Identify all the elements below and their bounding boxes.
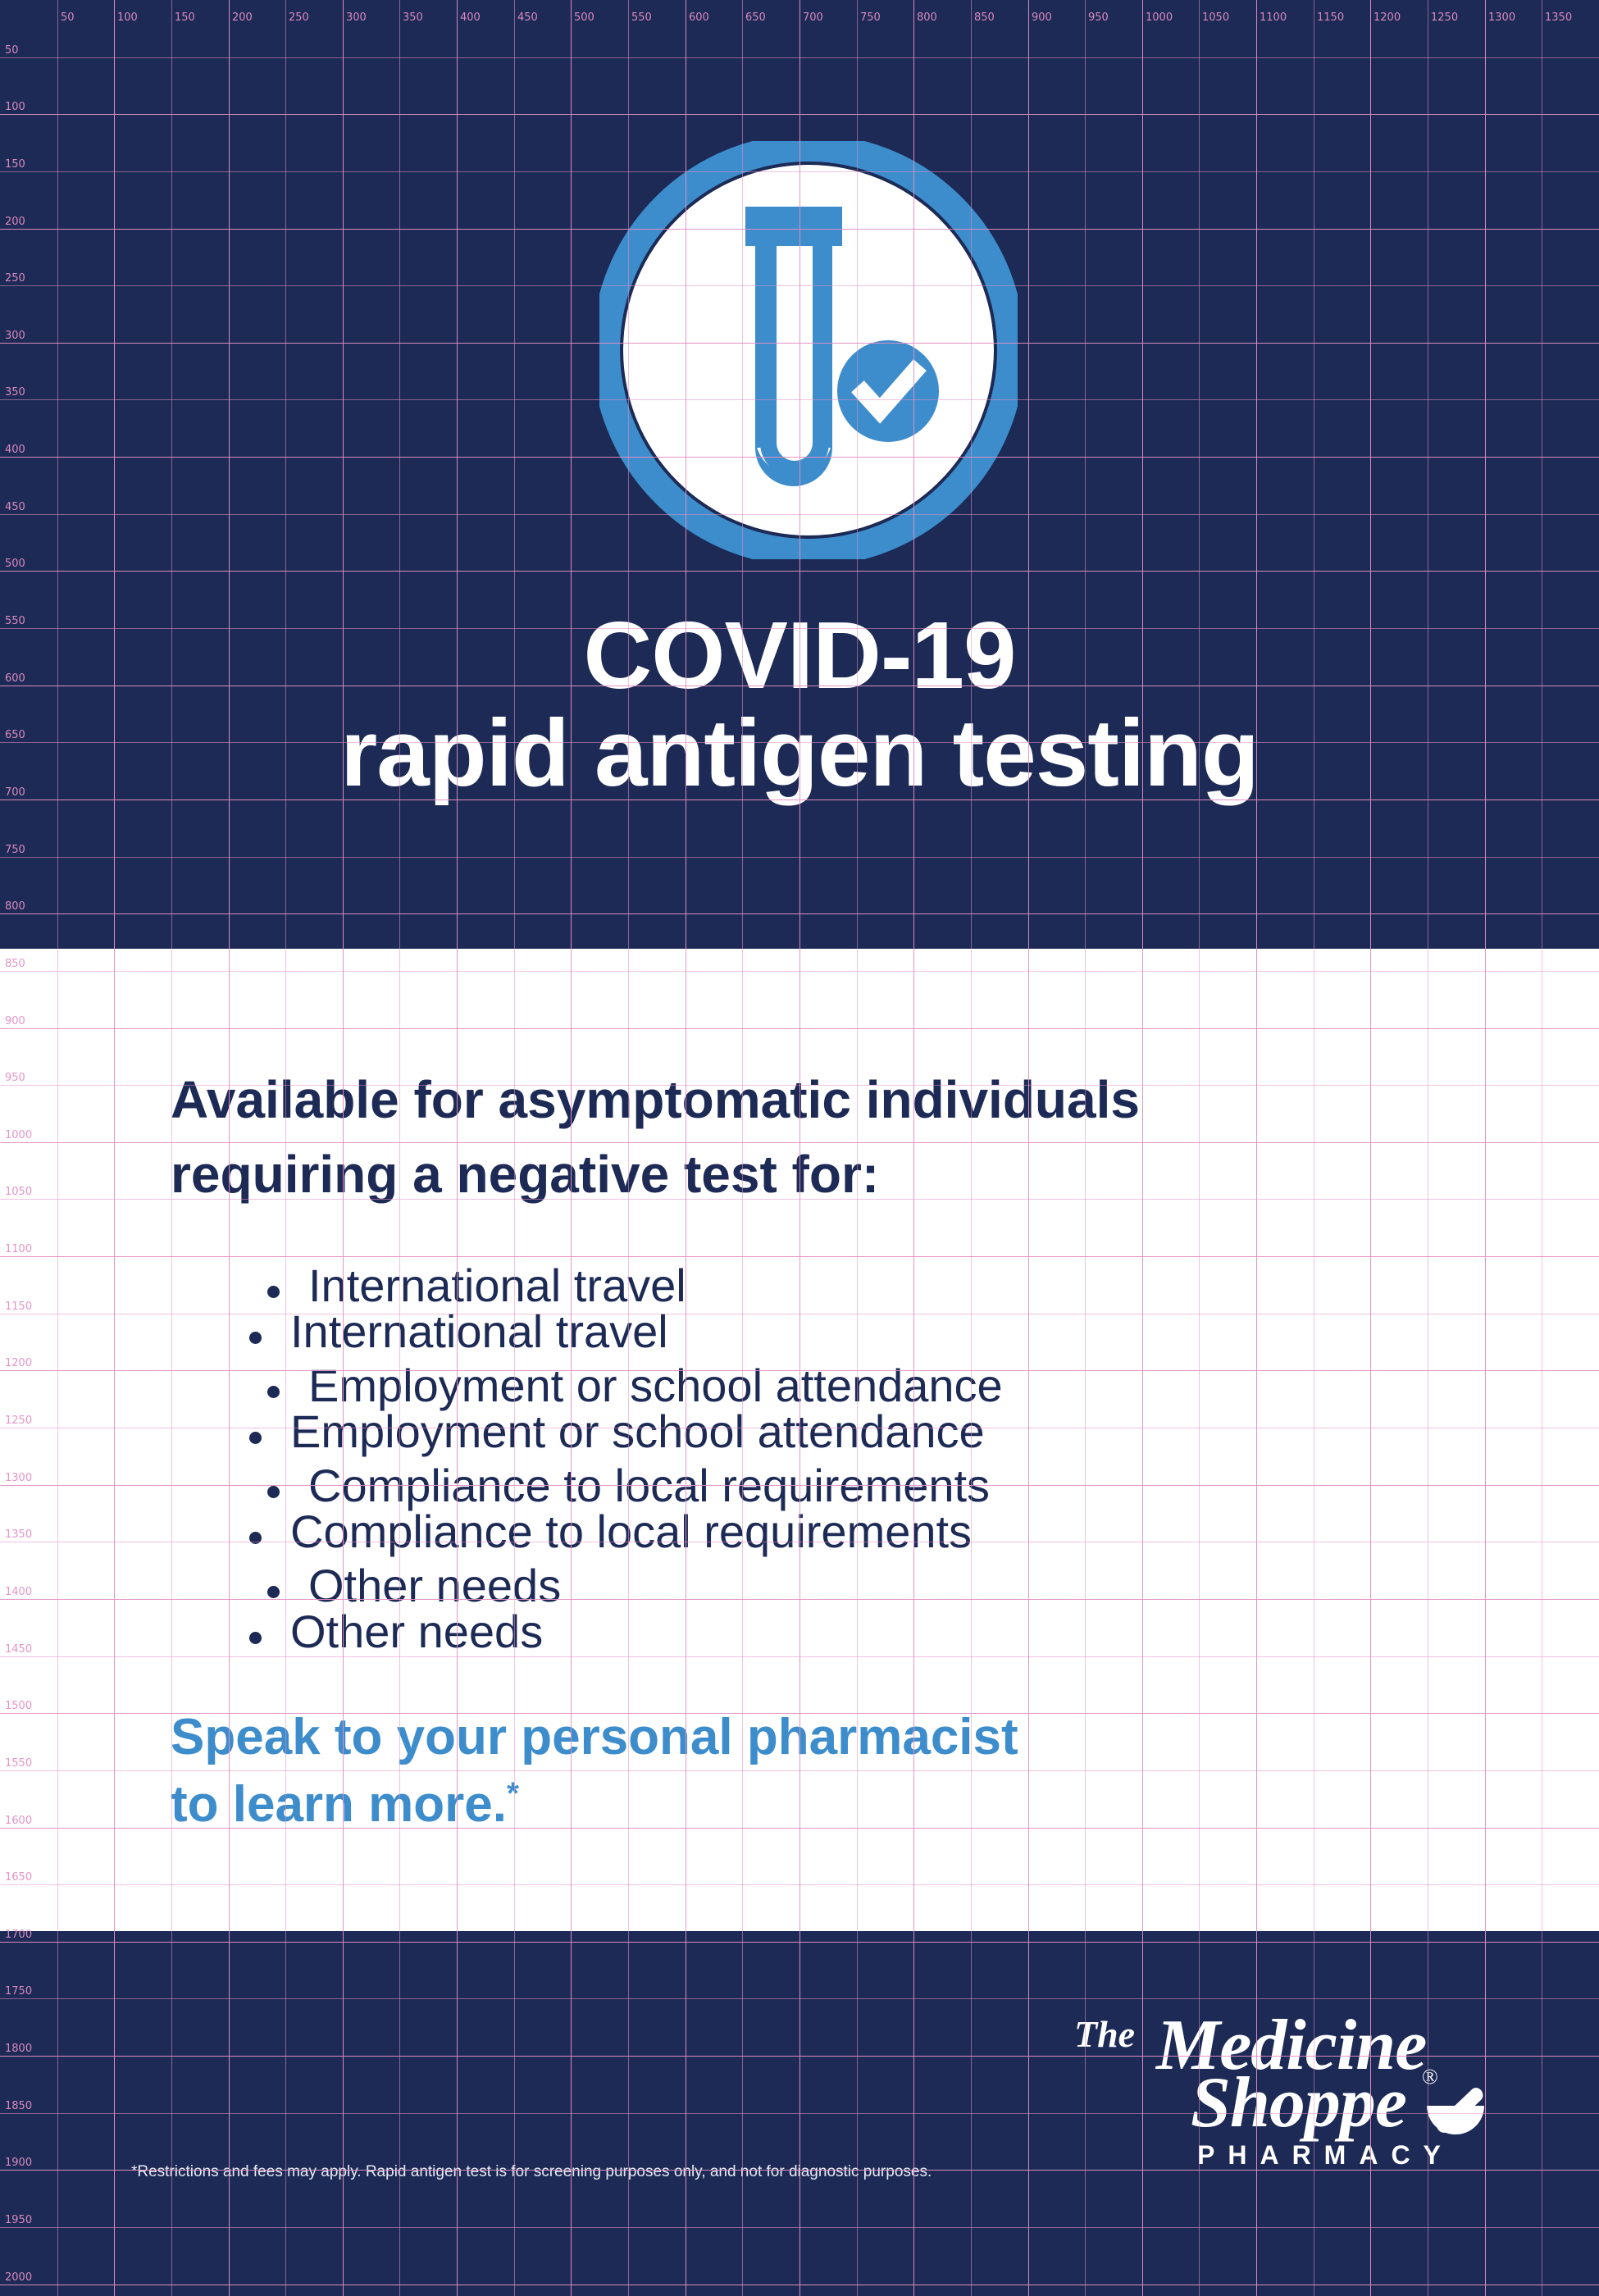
logo-word-the: The bbox=[1074, 2012, 1135, 2056]
page-title: COVID-19 rapid antigen testing bbox=[0, 607, 1599, 803]
cta-line-2-text: to learn more. bbox=[171, 1776, 507, 1833]
call-to-action: Speak to your personal pharmacist to lea… bbox=[171, 1704, 1401, 1839]
cta-asterisk: * bbox=[507, 1776, 519, 1811]
brand-logo: The Medicine Shoppe ® PHARMACY bbox=[1066, 2011, 1492, 2175]
headline-line-2: rapid antigen testing bbox=[0, 704, 1599, 802]
lead-paragraph: Available for asymptomatic individuals r… bbox=[171, 1063, 1450, 1212]
poster-canvas: COVID-19 rapid antigen testing Available… bbox=[0, 0, 1599, 2296]
bullet-list-duplicate: International travel Employment or schoo… bbox=[246, 1309, 1476, 1709]
cta-line-1: Speak to your personal pharmacist bbox=[171, 1704, 1401, 1771]
disclaimer-text: *Restrictions and fees may apply. Rapid … bbox=[131, 2163, 1050, 2182]
list-item: International travel bbox=[246, 1309, 1476, 1364]
cta-line-2: to learn more.* bbox=[171, 1771, 1401, 1838]
logo-word-shoppe: Shoppe bbox=[1191, 2061, 1406, 2144]
headline-line-1: COVID-19 bbox=[0, 607, 1599, 704]
logo-word-pharmacy: PHARMACY bbox=[1197, 2140, 1454, 2171]
lead-line-1: Available for asymptomatic individuals bbox=[171, 1063, 1450, 1137]
test-tube-with-checkmark-icon bbox=[599, 141, 1018, 559]
list-item: Employment or school attendance bbox=[246, 1409, 1476, 1465]
list-item: Compliance to local requirements bbox=[246, 1509, 1476, 1565]
list-item: Other needs bbox=[246, 1609, 1476, 1665]
mortar-and-pestle-icon bbox=[1425, 2086, 1486, 2137]
lead-line-2: requiring a negative test for: bbox=[171, 1137, 1450, 1212]
